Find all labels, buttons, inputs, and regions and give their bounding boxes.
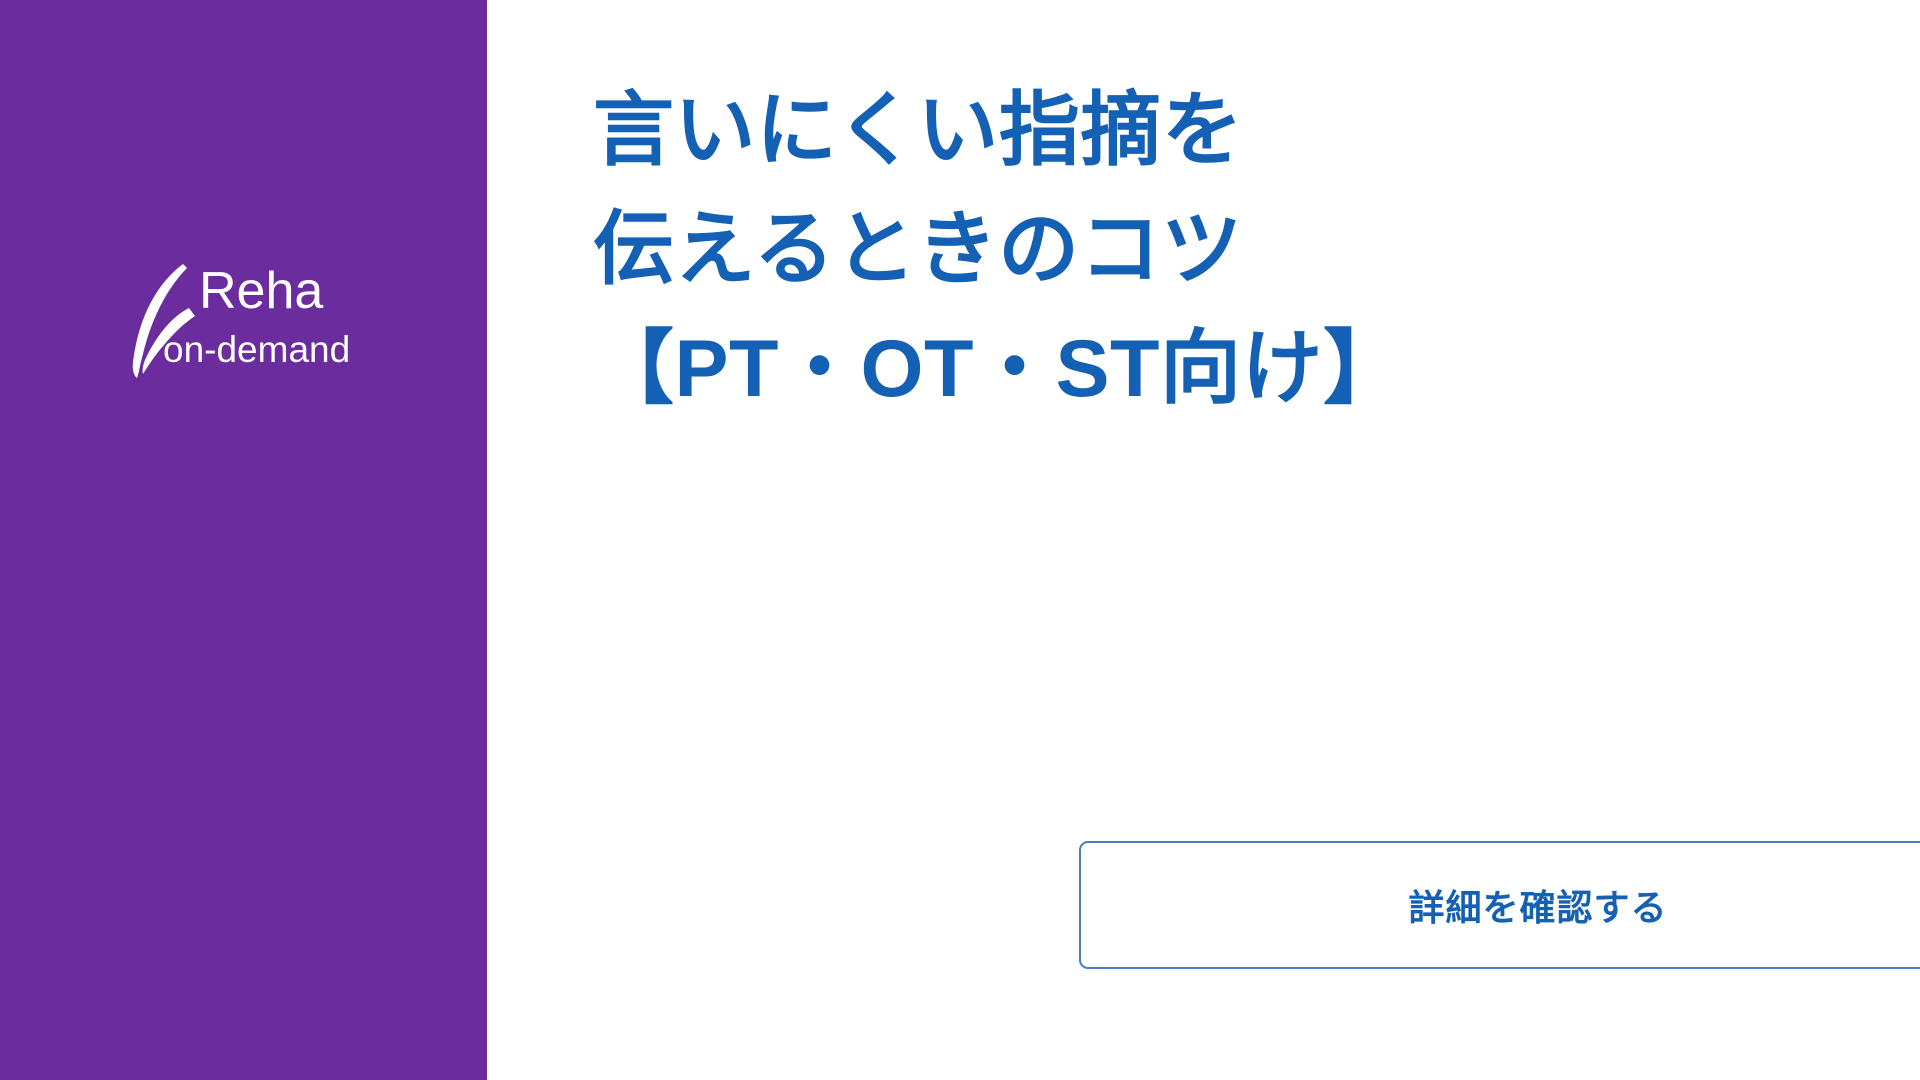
- page-title: 言いにくい指摘を 伝えるときのコツ 【PT・OT・ST向け】: [593, 72, 1773, 429]
- leaf-swoosh-icon: Reha on-demand: [125, 258, 375, 388]
- view-details-button[interactable]: 詳細を確認する: [1079, 841, 1920, 969]
- logo-secondary-text: on-demand: [163, 329, 350, 370]
- brand-panel: Reha on-demand: [0, 0, 487, 1080]
- promo-banner: Reha on-demand 言いにくい指摘を 伝えるときのコツ 【PT・OT・…: [0, 0, 1920, 1080]
- title-line-2: 伝えるときのコツ: [593, 191, 1773, 310]
- logo-primary-text: Reha: [199, 262, 323, 320]
- content-area: 言いにくい指摘を 伝えるときのコツ 【PT・OT・ST向け】 詳細を確認する: [487, 0, 1920, 1080]
- reha-on-demand-logo: Reha on-demand: [125, 258, 375, 388]
- title-line-3: 【PT・OT・ST向け】: [593, 310, 1773, 429]
- title-line-1: 言いにくい指摘を: [593, 72, 1773, 191]
- view-details-button-label: 詳細を確認する: [1081, 879, 1920, 931]
